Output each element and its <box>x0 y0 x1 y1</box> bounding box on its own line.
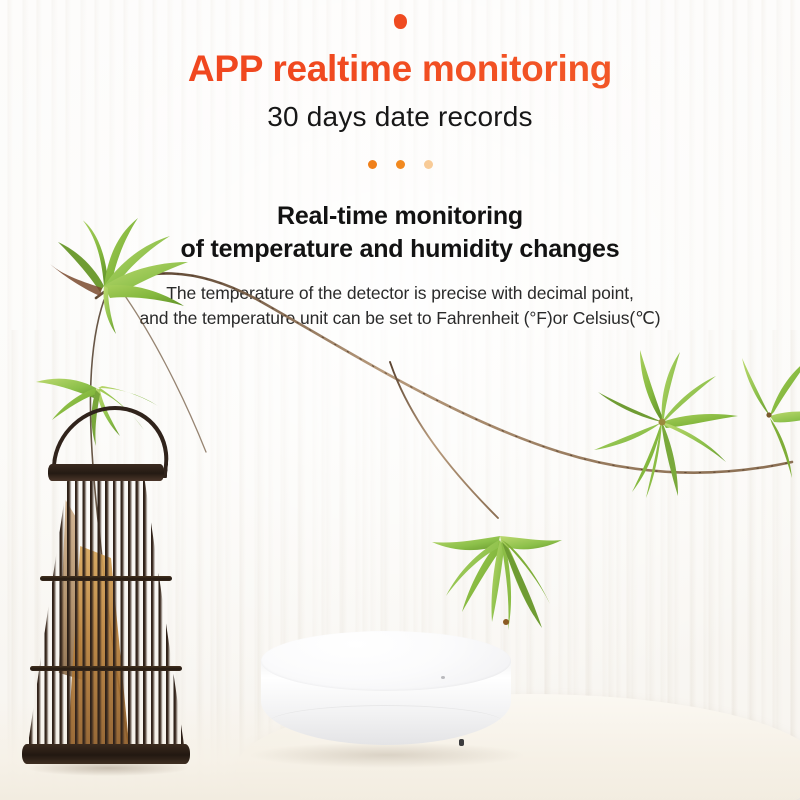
basket-ring-upper <box>40 576 172 581</box>
bamboo-lantern-basket <box>18 408 208 780</box>
basket-slats <box>26 478 186 758</box>
basket-base <box>22 744 190 764</box>
dot-3-icon <box>424 160 433 169</box>
feature-body: The temperature of the detector is preci… <box>0 281 800 331</box>
basket-rim <box>48 464 164 481</box>
decorative-dots <box>0 160 800 169</box>
device-vent-hole-icon <box>459 739 464 746</box>
basket-ring-lower <box>30 666 182 671</box>
page-title: APP realtime monitoring <box>0 48 800 90</box>
product-marketing-poster: APP realtime monitoring 30 days date rec… <box>0 0 800 800</box>
page-subtitle: 30 days date records <box>0 101 800 133</box>
device-led-indicator-icon <box>441 676 445 679</box>
feature-heading-line-2: of temperature and humidity changes <box>0 233 800 266</box>
feature-body-line-2: and the temperature unit can be set to F… <box>0 306 800 331</box>
round-white-temperature-humidity-sensor <box>261 631 511 759</box>
dot-1-icon <box>368 160 377 169</box>
device-top-surface <box>261 631 511 691</box>
feature-heading: Real-time monitoring of temperature and … <box>0 200 800 267</box>
feature-heading-line-1: Real-time monitoring <box>0 200 800 233</box>
feature-body-line-1: The temperature of the detector is preci… <box>0 281 800 306</box>
dot-2-icon <box>396 160 405 169</box>
